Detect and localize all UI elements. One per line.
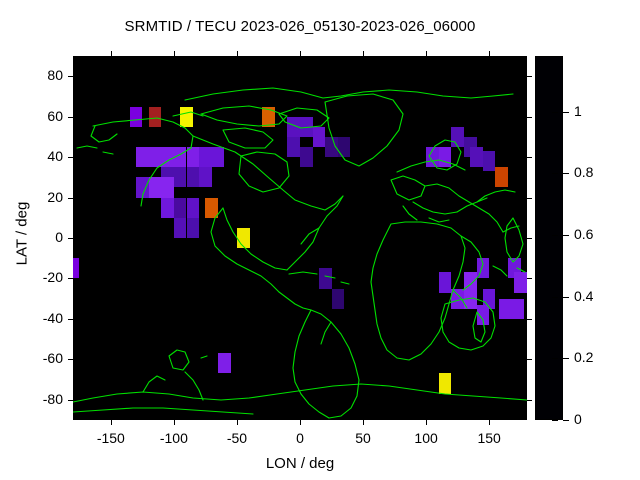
- x-tick-mark: [174, 51, 175, 56]
- x-tick-label: 0: [265, 430, 335, 446]
- y-tick-label: -80: [3, 391, 63, 407]
- y-tick-mark: [68, 157, 73, 158]
- colorbar-tick-mark: [552, 297, 558, 298]
- colorbar-tick-mark: [563, 173, 569, 174]
- colorbar-tick-mark: [552, 358, 558, 359]
- x-tick-label: -50: [202, 430, 272, 446]
- y-axis-label: LAT / deg: [14, 164, 31, 304]
- y-tick-mark: [527, 359, 532, 360]
- x-tick-mark: [300, 51, 301, 56]
- y-tick-mark: [68, 319, 73, 320]
- x-tick-mark: [363, 51, 364, 56]
- x-tick-mark: [237, 420, 238, 425]
- x-tick-mark: [111, 51, 112, 56]
- y-tick-mark: [527, 76, 532, 77]
- colorbar-tick-label: 0.2: [574, 349, 618, 365]
- x-tick-label: 100: [391, 430, 461, 446]
- chart-root: SRMTID / TECU 2023-026_05130-2023-026_06…: [0, 0, 640, 480]
- x-tick-label: 150: [454, 430, 524, 446]
- y-tick-label: -60: [3, 350, 63, 366]
- x-tick-mark: [489, 51, 490, 56]
- colorbar-tick-mark: [563, 112, 569, 113]
- y-tick-label: 40: [3, 148, 63, 164]
- y-tick-mark: [68, 76, 73, 77]
- map-plot-area: [73, 56, 527, 420]
- colorbar-tick-mark: [563, 297, 569, 298]
- y-tick-label: -40: [3, 310, 63, 326]
- colorbar-tick-label: 0.6: [574, 226, 618, 242]
- x-tick-mark: [300, 420, 301, 425]
- colorbar-tick-label: 0.4: [574, 288, 618, 304]
- x-tick-mark: [489, 420, 490, 425]
- y-tick-mark: [527, 278, 532, 279]
- y-tick-mark: [68, 400, 73, 401]
- y-tick-label: 0: [3, 229, 63, 245]
- y-tick-mark: [527, 238, 532, 239]
- x-tick-mark: [426, 51, 427, 56]
- colorbar-tick-mark: [552, 235, 558, 236]
- colorbar-tick-label: 1: [574, 103, 618, 119]
- x-tick-label: -100: [139, 430, 209, 446]
- x-tick-mark: [363, 420, 364, 425]
- colorbar-tick-mark: [552, 173, 558, 174]
- y-tick-mark: [527, 157, 532, 158]
- y-tick-mark: [68, 278, 73, 279]
- colorbar-tick-mark: [552, 420, 558, 421]
- x-tick-mark: [174, 420, 175, 425]
- x-axis-label: LON / deg: [73, 455, 527, 472]
- chart-title: SRMTID / TECU 2023-026_05130-2023-026_06…: [0, 18, 600, 35]
- colorbar-gradient: [536, 57, 562, 419]
- colorbar-tick-mark: [563, 420, 569, 421]
- y-tick-mark: [527, 117, 532, 118]
- x-tick-mark: [111, 420, 112, 425]
- x-tick-label: 50: [328, 430, 398, 446]
- y-tick-mark: [68, 238, 73, 239]
- colorbar-tick-mark: [563, 235, 569, 236]
- y-tick-label: 60: [3, 108, 63, 124]
- y-tick-label: -20: [3, 269, 63, 285]
- colorbar: [535, 56, 563, 420]
- y-tick-mark: [527, 400, 532, 401]
- y-tick-label: 20: [3, 189, 63, 205]
- coastline-overlay: [73, 56, 527, 420]
- colorbar-tick-mark: [563, 358, 569, 359]
- x-tick-mark: [426, 420, 427, 425]
- y-tick-mark: [68, 198, 73, 199]
- y-tick-label: 80: [3, 67, 63, 83]
- y-tick-mark: [68, 359, 73, 360]
- y-tick-mark: [68, 117, 73, 118]
- x-tick-label: -150: [76, 430, 146, 446]
- colorbar-tick-label: 0: [574, 411, 618, 427]
- y-tick-mark: [527, 198, 532, 199]
- x-tick-mark: [237, 51, 238, 56]
- colorbar-tick-mark: [552, 112, 558, 113]
- colorbar-tick-label: 0.8: [574, 164, 618, 180]
- y-tick-mark: [527, 319, 532, 320]
